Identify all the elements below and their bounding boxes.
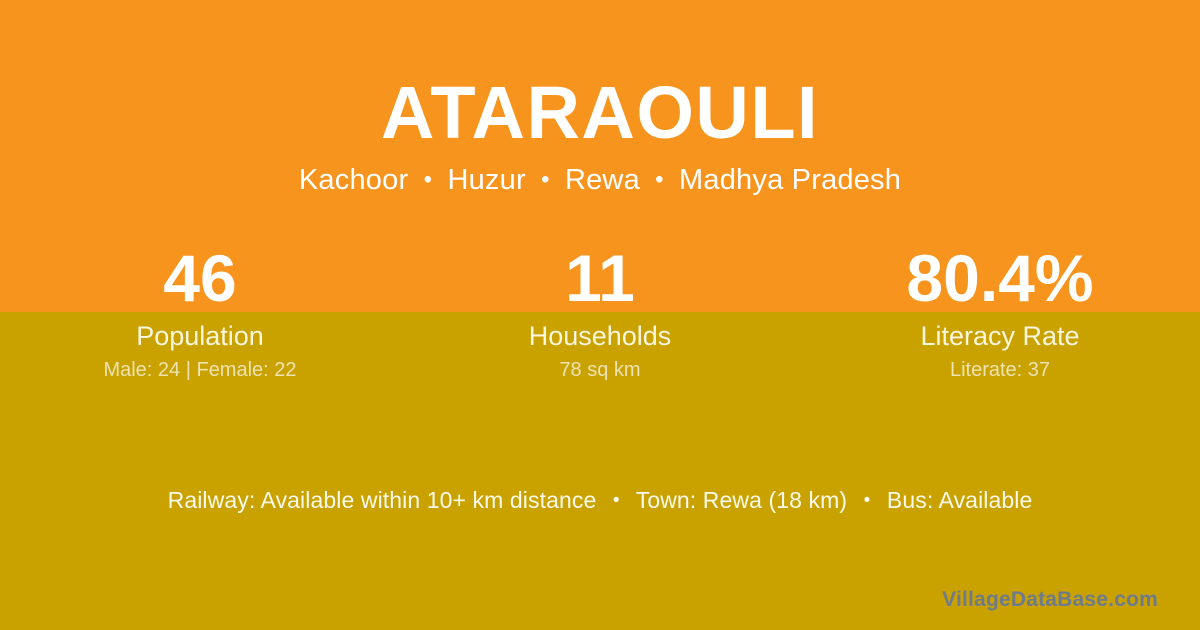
stat-value: 46 — [0, 245, 400, 311]
stat-label: Literacy Rate — [800, 321, 1200, 351]
breadcrumb: Kachoor • Huzur • Rewa • Madhya Pradesh — [0, 150, 1200, 195]
stat-households: 11 Households 78 sq km — [400, 245, 800, 381]
breadcrumb-item-tehsil: Huzur — [447, 164, 525, 196]
amenities-row: Railway: Available within 10+ km distanc… — [0, 487, 1200, 516]
breadcrumb-separator-icon: • — [648, 166, 671, 193]
card-header: ATARAOULI Kachoor • Huzur • Rewa • Madhy… — [0, 0, 1200, 195]
stat-population: 46 Population Male: 24 | Female: 22 — [0, 245, 400, 381]
page-title: ATARAOULI — [0, 0, 1200, 150]
stat-label: Population — [0, 321, 400, 351]
stat-value: 80.4% — [800, 245, 1200, 311]
stats-row: 46 Population Male: 24 | Female: 22 11 H… — [0, 245, 1200, 381]
stat-detail: 78 sq km — [400, 359, 800, 381]
breadcrumb-separator-icon: • — [417, 166, 440, 193]
amenity-railway: Railway: Available within 10+ km distanc… — [168, 487, 597, 513]
site-brand-watermark: VillageDataBase.com — [942, 588, 1158, 612]
stat-literacy-rate: 80.4% Literacy Rate Literate: 37 — [800, 245, 1200, 381]
breadcrumb-item-village: Kachoor — [299, 164, 408, 196]
breadcrumb-separator-icon: • — [534, 166, 557, 193]
stat-label: Households — [400, 321, 800, 351]
amenity-town: Town: Rewa (18 km) — [636, 487, 847, 513]
stat-value: 11 — [400, 245, 800, 311]
breadcrumb-item-state: Madhya Pradesh — [679, 164, 901, 196]
amenity-bus: Bus: Available — [887, 487, 1032, 513]
amenity-separator-icon: • — [603, 490, 630, 511]
village-info-card: ATARAOULI Kachoor • Huzur • Rewa • Madhy… — [0, 0, 1200, 630]
breadcrumb-item-district: Rewa — [565, 164, 640, 196]
amenity-separator-icon: • — [854, 490, 881, 511]
stat-detail: Male: 24 | Female: 22 — [0, 359, 400, 381]
stat-detail: Literate: 37 — [800, 359, 1200, 381]
